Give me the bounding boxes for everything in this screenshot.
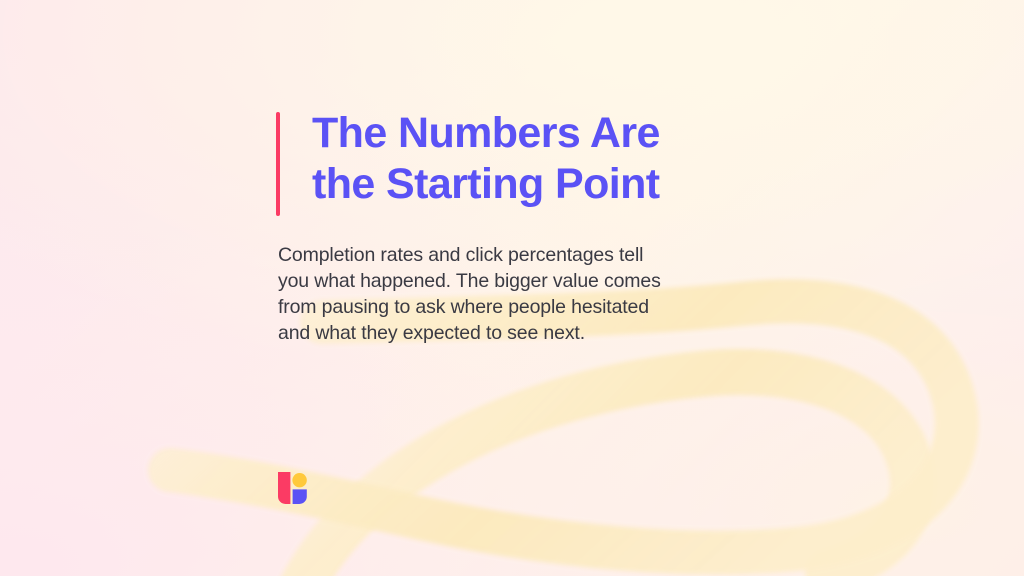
slide-content: The Numbers Are the Starting Point Compl…	[276, 108, 746, 346]
accent-bar	[276, 112, 280, 216]
logo-corner-shape	[293, 489, 307, 504]
u-mark-logo	[277, 471, 307, 505]
title-block: The Numbers Are the Starting Point	[276, 108, 746, 210]
logo-dot-shape	[292, 473, 306, 487]
slide-canvas: The Numbers Are the Starting Point Compl…	[0, 0, 1024, 576]
body-paragraph: Completion rates and click percentages t…	[276, 242, 746, 346]
page-title: The Numbers Are the Starting Point	[312, 108, 746, 210]
logo-stem-shape	[278, 472, 290, 504]
